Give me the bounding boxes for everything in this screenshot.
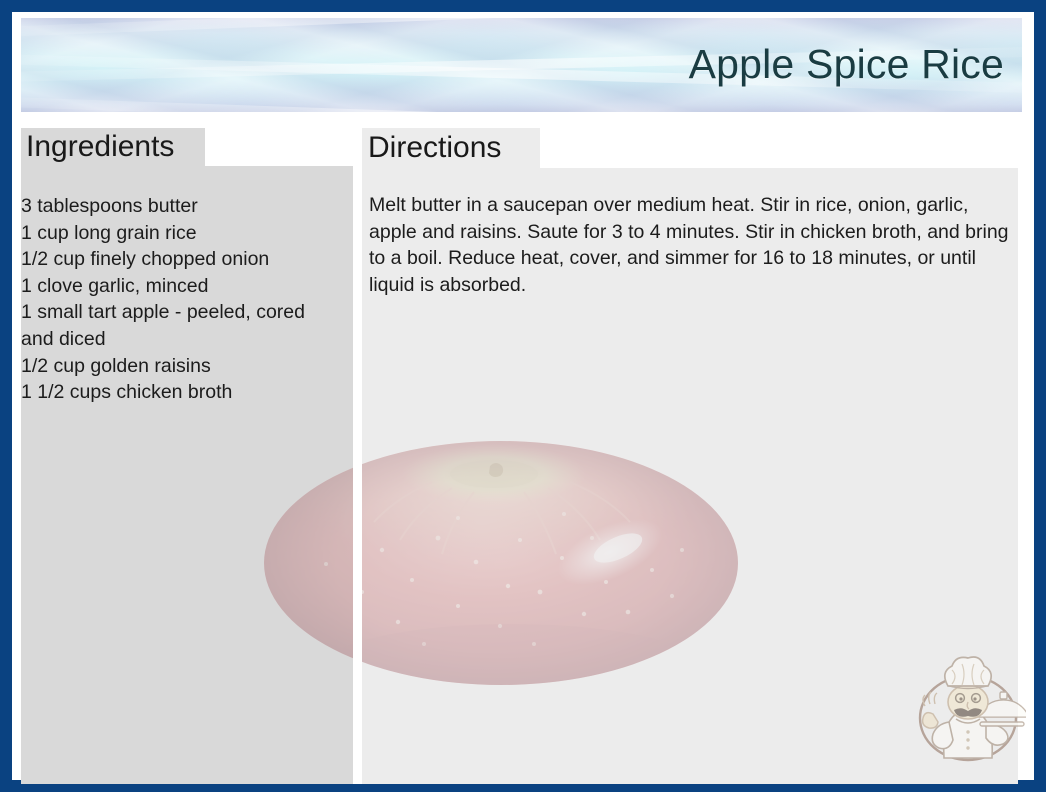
title-banner: Apple Spice Rice: [21, 18, 1022, 112]
slide-border-top: [0, 0, 1046, 12]
directions-tab: Directions: [362, 128, 540, 168]
slide-border-right: [1034, 0, 1046, 792]
banner-streak: [21, 94, 1022, 112]
ingredients-heading: Ingredients: [26, 130, 174, 164]
directions-text: Melt butter in a saucepan over medium he…: [369, 192, 1009, 298]
directions-heading: Directions: [368, 131, 501, 165]
ingredients-list: 3 tablespoons butter 1 cup long grain ri…: [21, 193, 353, 406]
ingredients-tab: Ingredients: [21, 128, 205, 166]
recipe-slide: Apple Spice Rice Ingredients 3 tablespoo…: [0, 0, 1046, 792]
panel-divider-gap: [353, 166, 362, 784]
chef-logo-icon: [916, 640, 1026, 778]
page-title: Apple Spice Rice: [689, 38, 1004, 90]
banner-streak: [21, 18, 1022, 40]
slide-border-left: [0, 0, 12, 792]
